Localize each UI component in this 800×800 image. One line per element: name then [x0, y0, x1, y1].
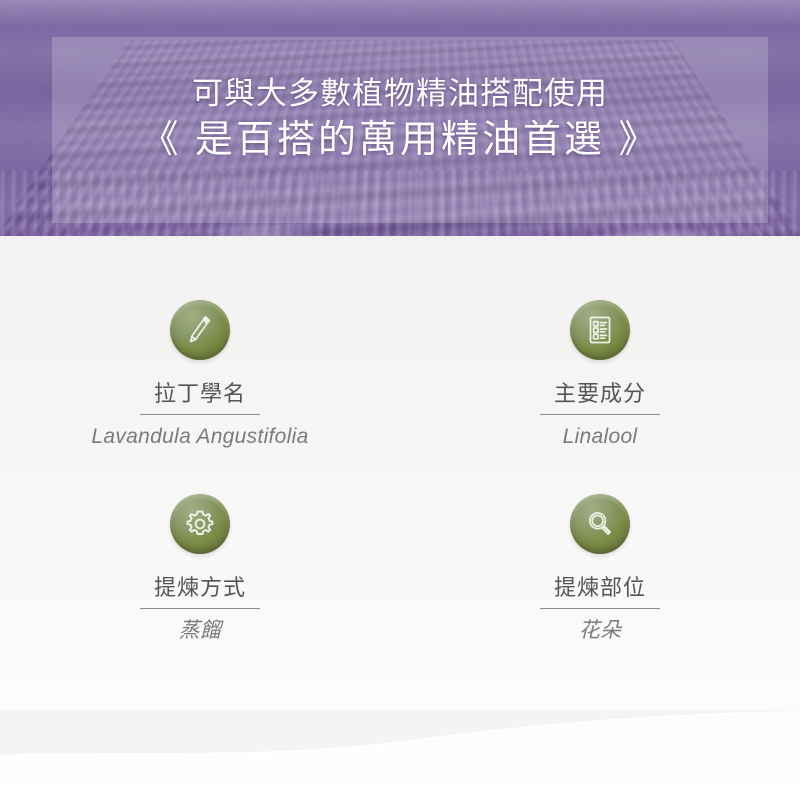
product-info-page: 可與大多數植物精油搭配使用 《 是百搭的萬用精油首選 》 拉丁學名: [0, 0, 800, 800]
spec-card-main-component: 主要成分 Linalool: [400, 300, 800, 450]
spec-card-extraction-method: 提煉方式 蒸餾: [0, 450, 400, 644]
spec-grid: 拉丁學名 Lavandula Angustifolia: [0, 300, 800, 644]
spec-card-latin-name: 拉丁學名 Lavandula Angustifolia: [0, 300, 400, 450]
spec-label: 提煉部位: [554, 575, 646, 601]
spec-divider: [540, 608, 660, 609]
spec-label: 主要成分: [554, 381, 646, 407]
spec-section: 拉丁學名 Lavandula Angustifolia: [0, 236, 800, 800]
pen-icon: [170, 300, 230, 360]
hero-headline-line-1: 可與大多數植物精油搭配使用: [0, 74, 800, 114]
hero-headline: 可與大多數植物精油搭配使用 《 是百搭的萬用精油首選 》: [0, 74, 800, 166]
spec-divider: [540, 414, 660, 415]
checklist-icon: [570, 300, 630, 360]
spec-label: 提煉方式: [154, 575, 246, 601]
spec-value: Lavandula Angustifolia: [91, 424, 308, 450]
spec-card-extraction-part: 提煉部位 花朵: [400, 450, 800, 644]
spec-value: 花朵: [579, 618, 622, 644]
gear-icon: [170, 494, 230, 554]
spec-divider: [140, 414, 260, 415]
wave-divider-bottom: [0, 710, 800, 800]
spec-label: 拉丁學名: [154, 381, 246, 407]
spec-value: 蒸餾: [179, 618, 222, 644]
spec-value: Linalool: [563, 424, 638, 450]
hero-headline-line-2: 《 是百搭的萬用精油首選 》: [0, 114, 800, 166]
spec-divider: [140, 608, 260, 609]
magnifier-icon: [570, 494, 630, 554]
